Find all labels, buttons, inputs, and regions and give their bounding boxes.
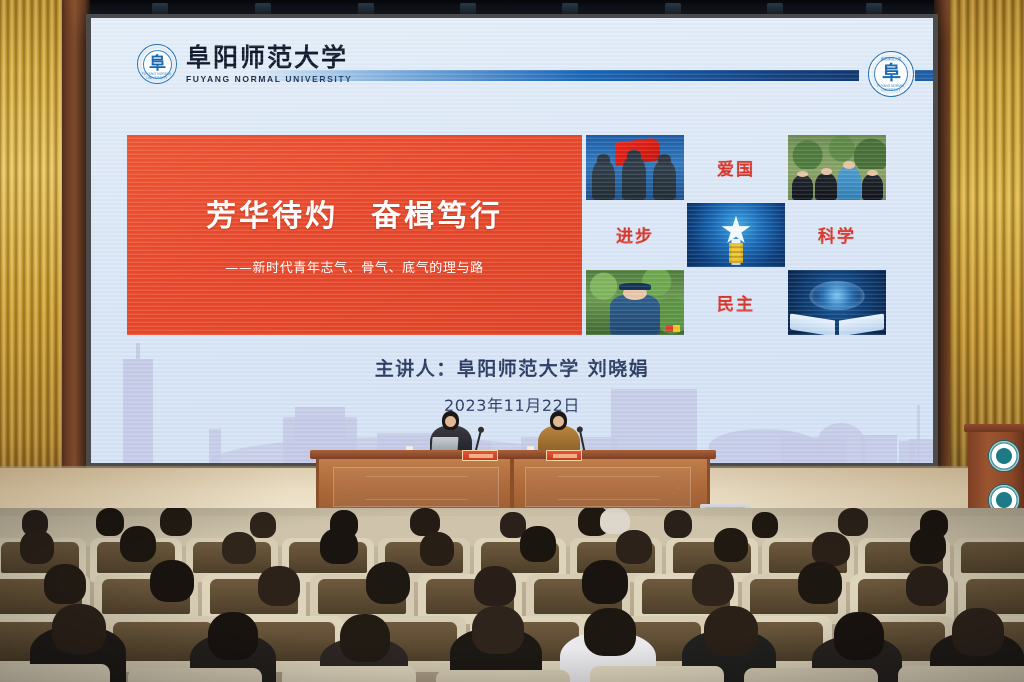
curtain-fabric <box>0 0 62 498</box>
projection-screen: 阜 FUYANG NORMAL UNIVERSITY 阜阳师范大学 FUYANG… <box>86 14 938 469</box>
skyline-dome-building <box>817 423 865 463</box>
skyline-building <box>909 439 933 463</box>
audience-head <box>320 528 358 564</box>
audience-head <box>714 528 748 562</box>
audience-head <box>664 510 692 538</box>
audience-head <box>910 528 946 564</box>
keyword-jinbu: 进步 <box>586 203 684 268</box>
audience-head <box>340 614 390 662</box>
photo-content <box>788 270 886 335</box>
university-name-cn: 阜阳师范大学 <box>186 45 352 70</box>
audience-head <box>616 530 652 564</box>
soldier-figure <box>622 156 646 200</box>
stage-curtain-left <box>0 0 62 498</box>
audience-area <box>0 508 1024 682</box>
audience-head <box>420 532 454 566</box>
audience-head <box>222 532 256 564</box>
photo-watermark <box>666 325 680 333</box>
presenter-line: 主讲人：阜阳师范大学 刘晓娟 <box>91 354 933 381</box>
police-officer-photo <box>586 270 684 335</box>
seal-ring-text: FUYANG NORMAL UNIVERSITY <box>138 72 176 80</box>
university-seal-icon-right: 阜阳师范大学 阜 FUYANG NORMAL UNIVERSITY <box>868 51 914 97</box>
seal-monogram: 阜 <box>149 55 165 72</box>
student-figure <box>862 174 884 200</box>
audience-head <box>582 560 628 604</box>
keyword-label: 爱国 <box>717 155 755 180</box>
soldiers-with-flag-photo <box>586 135 684 200</box>
audience-seat-front <box>590 666 724 682</box>
audience-head <box>96 508 124 536</box>
keyword-photo-grid: 爱国 进步 <box>586 135 886 335</box>
audience-head <box>520 526 556 562</box>
podium-top <box>964 424 1024 432</box>
slide-subtitle: ——新时代青年志气、骨气、底气的理与路 <box>127 257 582 276</box>
audience-head <box>584 608 636 656</box>
table-panel-left <box>333 467 500 507</box>
nameplate-left <box>462 450 498 461</box>
skyline-building <box>861 435 897 463</box>
audience-seat-front <box>0 664 110 682</box>
seal-bottom-text: FUYANG NORMAL UNIVERSITY <box>869 84 913 92</box>
audience-head <box>474 566 516 606</box>
laptop-screen <box>432 437 459 451</box>
keyword-label: 进步 <box>616 222 654 247</box>
audience-seat-front <box>898 666 1024 682</box>
open-book-right-page <box>839 313 884 335</box>
open-book-left-page <box>790 313 835 335</box>
audience-head <box>472 606 524 654</box>
background-foliage <box>788 135 886 169</box>
audience-head <box>838 508 868 536</box>
keyword-aiguo: 爱国 <box>687 135 785 200</box>
brain-book-photo <box>788 270 886 335</box>
audience-head <box>120 526 156 562</box>
audience-head <box>366 562 410 604</box>
seal-monogram: 阜 <box>882 64 900 83</box>
officer-body <box>610 295 661 335</box>
audience-head <box>20 530 54 564</box>
keyword-label: 科学 <box>818 222 856 247</box>
slide-title-block: 芳华待灼 奋楫笃行 ——新时代青年志气、骨气、底气的理与路 <box>127 135 582 335</box>
seal-top-text: 阜阳师范大学 <box>869 56 913 61</box>
photo-content <box>586 270 684 335</box>
audience-head <box>52 604 106 654</box>
audience-seat-front <box>128 668 262 682</box>
keyword-minzhu: 民主 <box>687 270 785 335</box>
slide-title: 芳华待灼 奋楫笃行 <box>127 191 582 235</box>
brain-icon <box>810 281 865 311</box>
nameplate-right <box>546 450 582 461</box>
audience-head <box>752 512 778 538</box>
audience-head <box>952 608 1004 656</box>
seat-back <box>961 542 1024 573</box>
student-figure <box>792 175 814 200</box>
keyword-kexue: 科学 <box>788 203 886 268</box>
slide-date: 2023年11月22日 <box>91 392 933 416</box>
presentation-slide: 阜 FUYANG NORMAL UNIVERSITY 阜阳师范大学 FUYANG… <box>91 18 933 463</box>
university-seal-icon: 阜 FUYANG NORMAL UNIVERSITY <box>137 44 177 84</box>
head-table <box>316 450 710 516</box>
students-with-teacher-photo <box>788 135 886 200</box>
table-top-surface <box>310 450 716 459</box>
keyword-label: 民主 <box>717 290 755 315</box>
audience-head <box>250 512 276 538</box>
photo-content <box>586 135 684 200</box>
header-accent-bar <box>249 70 859 81</box>
teacher-figure <box>837 166 861 200</box>
audience-head <box>160 508 192 536</box>
lecture-hall-photo: 阜 FUYANG NORMAL UNIVERSITY 阜阳师范大学 FUYANG… <box>0 0 1024 682</box>
audience-head <box>834 612 884 660</box>
audience-head <box>150 560 194 602</box>
star-award-photo <box>687 203 785 268</box>
audience-seat-front <box>744 668 878 682</box>
audience-head <box>906 566 948 606</box>
audience-head <box>812 532 850 566</box>
podium-emblem-icon <box>988 440 1020 472</box>
person-face <box>553 416 564 427</box>
award-gold-detail <box>729 243 743 264</box>
person-face <box>445 416 456 427</box>
audience-head <box>704 606 758 656</box>
soldier-figure <box>592 160 616 200</box>
slide-header: 阜 FUYANG NORMAL UNIVERSITY 阜阳师范大学 FUYANG… <box>91 18 933 122</box>
header-accent-bar-tail <box>915 70 933 81</box>
photo-content <box>687 203 785 268</box>
soldier-figure <box>653 160 677 200</box>
audience-seat-front <box>282 666 416 682</box>
photo-content <box>788 135 886 200</box>
audience-head <box>208 612 258 660</box>
audience-head <box>798 562 842 604</box>
police-cap-icon <box>619 283 650 290</box>
audience-head <box>44 564 86 604</box>
audience-seat-front <box>436 670 570 682</box>
table-panel-right <box>525 467 692 507</box>
skyline-building <box>209 429 221 463</box>
audience-head <box>692 564 734 606</box>
audience-head <box>258 566 300 606</box>
student-figure <box>815 173 837 200</box>
